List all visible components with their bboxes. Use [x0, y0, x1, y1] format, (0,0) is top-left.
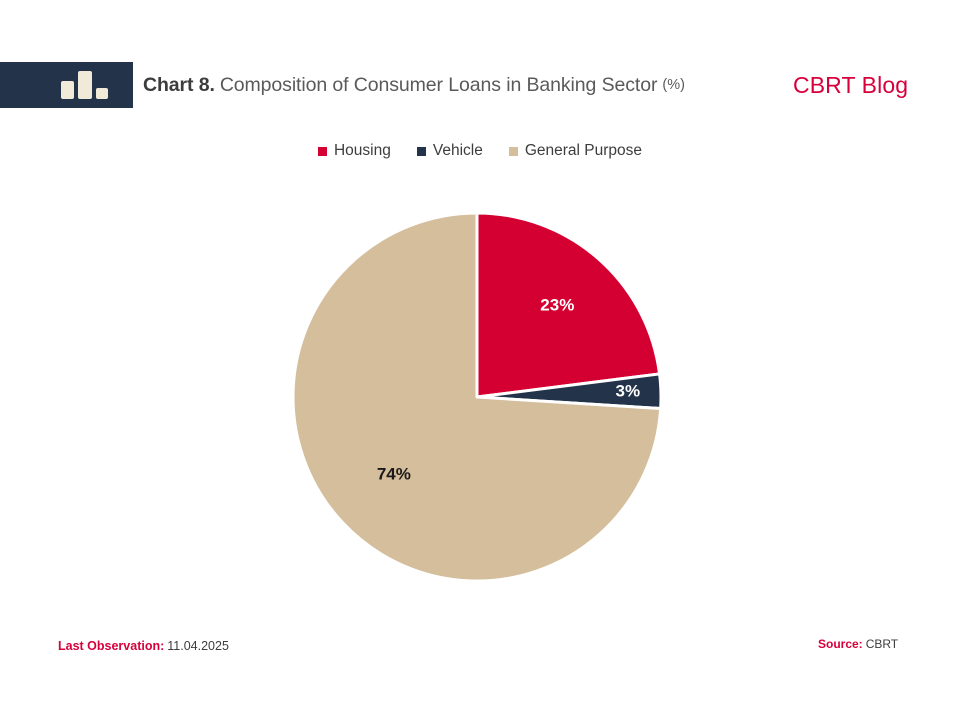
source-label: Source:: [818, 637, 863, 651]
last-observation: Last Observation:11.04.2025: [58, 639, 229, 653]
pie-slice-label-general-purpose: 74%: [377, 465, 411, 484]
source-value: CBRT: [866, 637, 898, 651]
last-observation-value: 11.04.2025: [167, 639, 229, 653]
source-note: Source:CBRT: [818, 637, 898, 651]
pie-chart-svg: 23%3%74%: [0, 0, 960, 720]
pie-slice-group: [293, 213, 661, 581]
pie-chart: 23%3%74%: [0, 0, 960, 720]
pie-slice-label-housing: 23%: [540, 295, 574, 314]
last-observation-label: Last Observation:: [58, 639, 164, 653]
pie-slice-label-vehicle: 3%: [616, 382, 641, 401]
